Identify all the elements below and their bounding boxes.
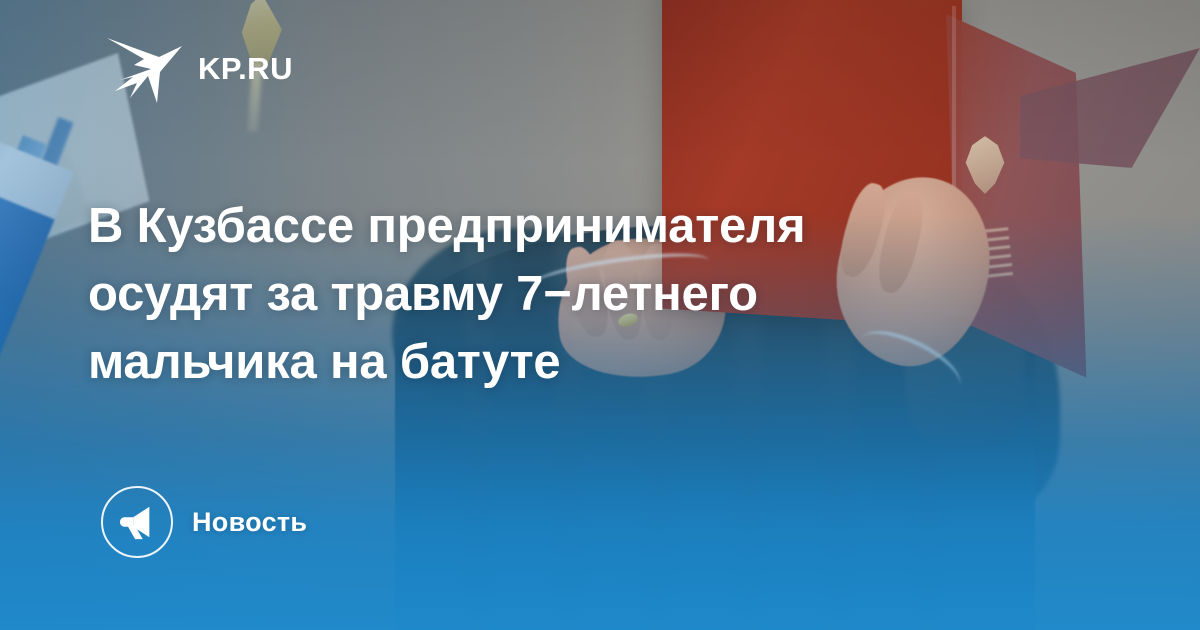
badge-label: Новость (192, 507, 307, 538)
card-content: KP.RU В Кузбассе предпринимателя осудят … (0, 0, 1200, 630)
news-share-card: KP.RU В Кузбассе предпринимателя осудят … (0, 0, 1200, 630)
brand-name-label: KP.RU (198, 53, 293, 84)
brand-logo[interactable]: KP.RU (104, 32, 293, 104)
swallow-bird-icon (104, 32, 182, 104)
headline-line-3: мальчика на батуте (88, 328, 988, 396)
badge-icon-circle (101, 486, 173, 558)
status-badge[interactable]: Новость (101, 486, 307, 558)
headline-line-1: В Кузбассе предпринимателя (88, 192, 988, 260)
page-title: В Кузбассе предпринимателя осудят за тра… (88, 192, 988, 396)
headline-line-2: осудят за травму 7−летнего (88, 260, 988, 328)
megaphone-icon (118, 503, 156, 541)
